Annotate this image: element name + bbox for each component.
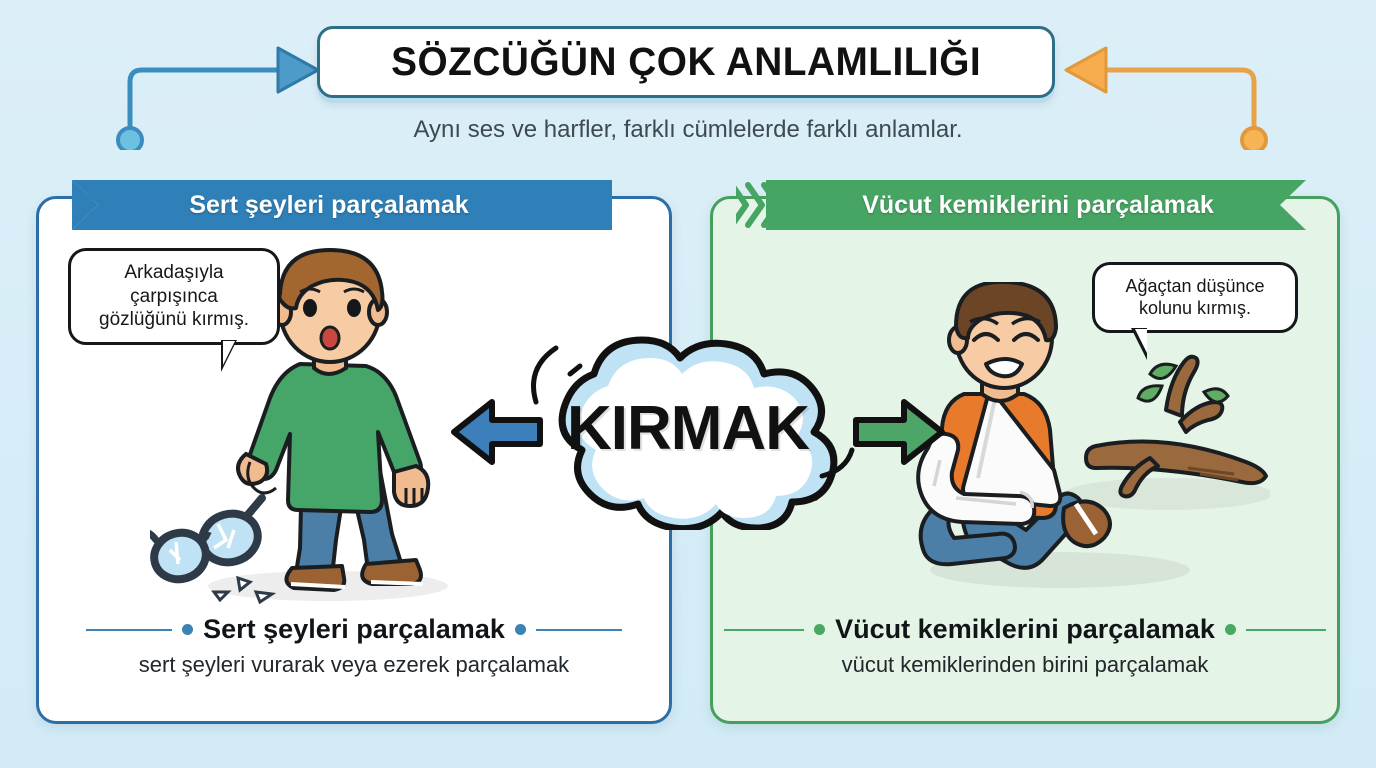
page-title-box: SÖZCÜĞÜN ÇOK ANLAMLILIĞI xyxy=(317,26,1055,98)
tree-branch xyxy=(1086,357,1266,497)
speech-bubble-left-tail-inner xyxy=(223,341,235,365)
connector-left xyxy=(112,30,322,155)
caption-left-line-end xyxy=(536,629,622,631)
caption-left-dot-end xyxy=(515,624,526,635)
speech-bubble-right: Ağaçtan düşünce kolunu kırmış. xyxy=(1092,262,1298,333)
caption-left-title: Sert şeyleri parçalamak xyxy=(203,614,505,645)
center-word: KIRMAK xyxy=(470,328,906,528)
speech-bubble-right-tail-inner xyxy=(1135,329,1147,353)
caption-right-line-start xyxy=(724,629,804,631)
caption-left-subtitle: sert şeyleri vurarak veya ezerek parçala… xyxy=(36,652,672,678)
speech-bubble-left: Arkadaşıyla çarpışınca gözlüğünü kırmış. xyxy=(68,248,280,345)
caption-left: Sert şeyleri parçalamak sert şeyleri vur… xyxy=(36,614,672,678)
caption-right-dot-start xyxy=(814,624,825,635)
caption-right: Vücut kemiklerini parçalamak vücut kemik… xyxy=(710,614,1340,678)
ribbon-right: Vücut kemiklerini parçalamak xyxy=(736,180,1306,230)
ribbon-left: Sert şeyleri parçalamak xyxy=(72,180,612,230)
center-cloud: KIRMAK xyxy=(470,330,906,530)
ribbon-right-label: Vücut kemiklerini parçalamak xyxy=(736,191,1306,220)
caption-right-line-end xyxy=(1246,629,1326,631)
ribbon-left-label: Sert şeyleri parçalamak xyxy=(72,191,612,220)
caption-right-dot-end xyxy=(1225,624,1236,635)
page-title: SÖZCÜĞÜN ÇOK ANLAMLILIĞI xyxy=(391,40,981,85)
caption-right-subtitle: vücut kemiklerinden birini parçalamak xyxy=(710,652,1340,678)
speech-bubble-right-text: Ağaçtan düşünce kolunu kırmış. xyxy=(1125,276,1264,318)
caption-left-dot-start xyxy=(182,624,193,635)
connector-right xyxy=(1062,30,1272,155)
caption-right-title: Vücut kemiklerini parçalamak xyxy=(835,614,1215,645)
caption-left-line-start xyxy=(86,629,172,631)
infographic-canvas: SÖZCÜĞÜN ÇOK ANLAMLILIĞI Aynı ses ve har… xyxy=(0,0,1376,768)
speech-bubble-left-text: Arkadaşıyla çarpışınca gözlüğünü kırmış. xyxy=(99,262,249,330)
